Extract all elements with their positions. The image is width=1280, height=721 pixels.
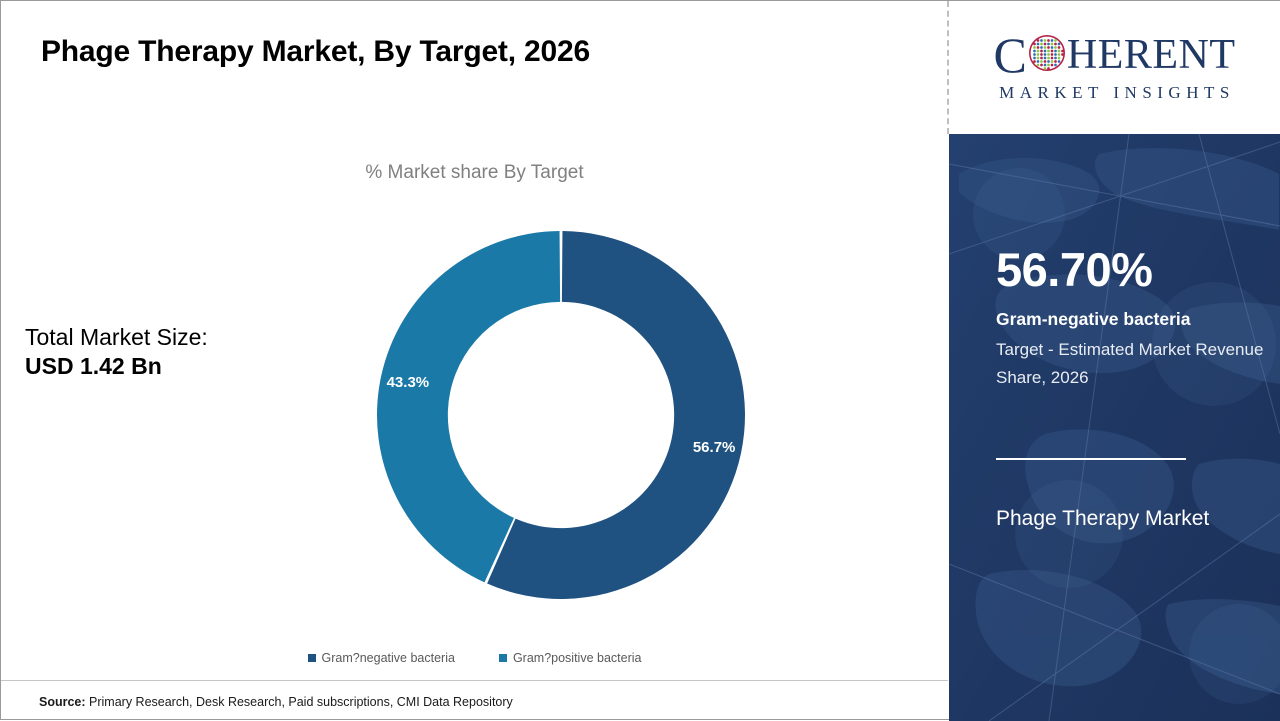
legend-item[interactable]: Gram?positive bacteria	[499, 651, 642, 665]
main-content-area: Phage Therapy Market, By Target, 2026 % …	[1, 1, 948, 721]
right-sidebar: C HERENT MARKET INSIGHTS	[949, 1, 1280, 721]
source-label: Source:	[39, 695, 86, 709]
chart-subtitle: % Market share By Target	[1, 162, 948, 184]
brand-logo[interactable]: C HERENT MARKET INSIGHTS	[949, 1, 1280, 134]
stat-panel: 56.70% Gram-negative bacteria Target - E…	[949, 134, 1280, 721]
logo-word-rest: HERENT	[1067, 34, 1236, 76]
stat-panel-content: 56.70% Gram-negative bacteria Target - E…	[996, 134, 1280, 721]
slide-canvas: Phage Therapy Market, By Target, 2026 % …	[0, 0, 1280, 720]
donut-label-gram-positive: 43.3%	[387, 374, 430, 391]
donut-label-gram-negative: 56.7%	[693, 439, 736, 456]
legend-item[interactable]: Gram?negative bacteria	[308, 651, 455, 665]
legend-swatch-icon	[308, 654, 316, 662]
source-line: Source: Primary Research, Desk Research,…	[39, 695, 513, 709]
report-title: Phage Therapy Market	[996, 501, 1246, 537]
legend-swatch-icon	[499, 654, 507, 662]
stat-percentage: 56.70%	[996, 246, 1152, 293]
stat-description: Target - Estimated Market Revenue Share,…	[996, 336, 1266, 391]
logo-wordmark: C HERENT	[993, 32, 1235, 78]
source-divider	[1, 680, 948, 681]
donut-slices	[377, 231, 745, 599]
donut-chart: 56.7% 43.3%	[377, 231, 745, 599]
source-text: Primary Research, Desk Research, Paid su…	[86, 695, 513, 709]
panel-horizontal-rule	[996, 458, 1186, 460]
stat-highlight-label: Gram-negative bacteria	[996, 309, 1191, 330]
chart-legend: Gram?negative bacteriaGram?positive bact…	[1, 651, 948, 665]
total-market-size-value: USD 1.42 Bn	[25, 352, 208, 381]
legend-label: Gram?positive bacteria	[513, 651, 642, 665]
page-title: Phage Therapy Market, By Target, 2026	[41, 35, 590, 69]
legend-label: Gram?negative bacteria	[322, 651, 455, 665]
logo-letter-c: C	[993, 30, 1026, 80]
total-market-size-label: Total Market Size:	[25, 323, 208, 352]
total-market-size-block: Total Market Size: USD 1.42 Bn	[25, 323, 208, 382]
globe-icon	[1028, 34, 1066, 77]
logo-tagline: MARKET INSIGHTS	[994, 83, 1235, 103]
